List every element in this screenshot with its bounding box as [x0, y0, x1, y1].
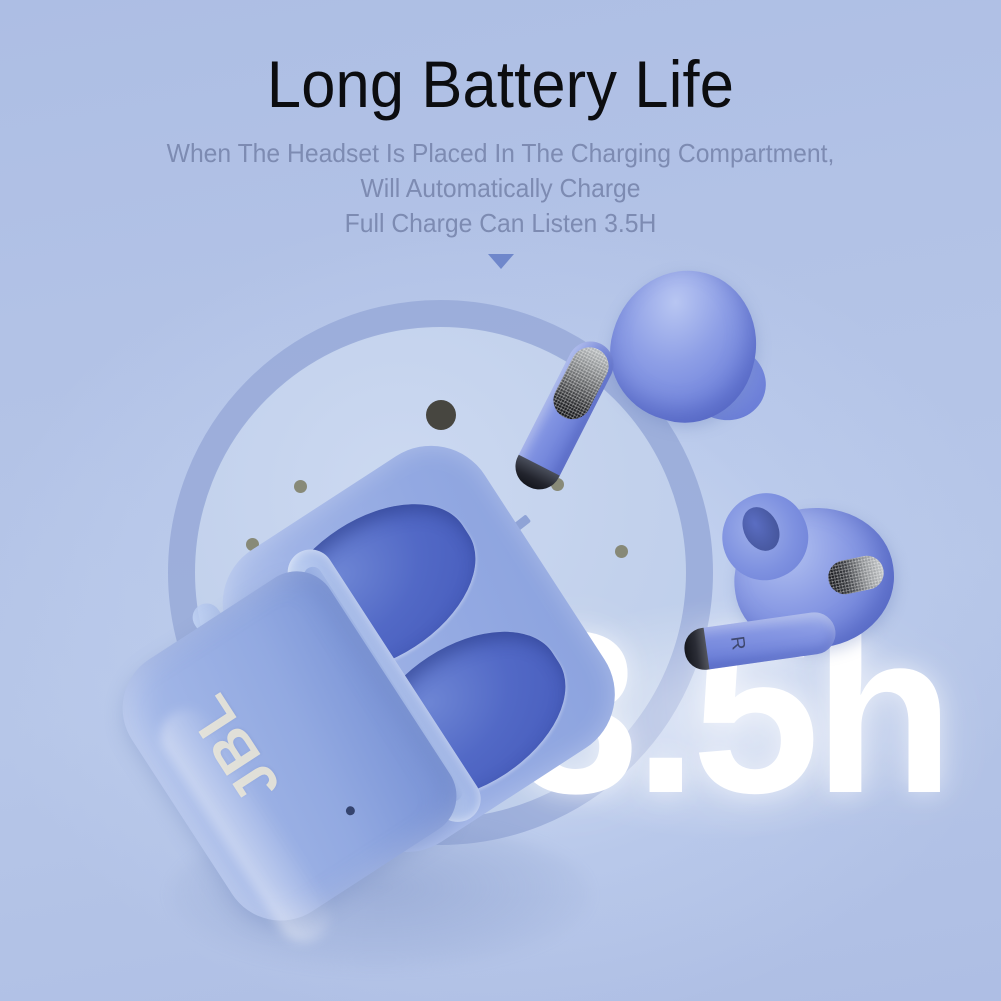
subtitle-line: When The Headset Is Placed In The Chargi… — [25, 136, 976, 171]
subtitle-line: Full Charge Can Listen 3.5H — [25, 206, 976, 241]
product-promo-banner: 3.5h JBL R — [0, 0, 1001, 1001]
earbud-right-stem: R — [682, 610, 838, 673]
earbud-right-contact-tip — [682, 628, 710, 673]
header: Long Battery Life When The Headset Is Pl… — [0, 0, 1001, 269]
earbud-right-channel-label: R — [725, 635, 749, 652]
microphone-grille-icon — [547, 341, 615, 426]
subtitle: When The Headset Is Placed In The Chargi… — [25, 120, 976, 240]
subtitle-line: Will Automatically Charge — [25, 171, 976, 206]
earbud-right: R — [682, 488, 932, 718]
earbud-left — [556, 268, 806, 518]
page-title: Long Battery Life — [35, 0, 966, 120]
led-indicator-icon — [344, 805, 356, 817]
clock-marker-minor-icon — [294, 480, 307, 493]
chevron-down-triangle-icon — [488, 254, 514, 269]
clock-marker-minor-icon — [615, 545, 628, 558]
